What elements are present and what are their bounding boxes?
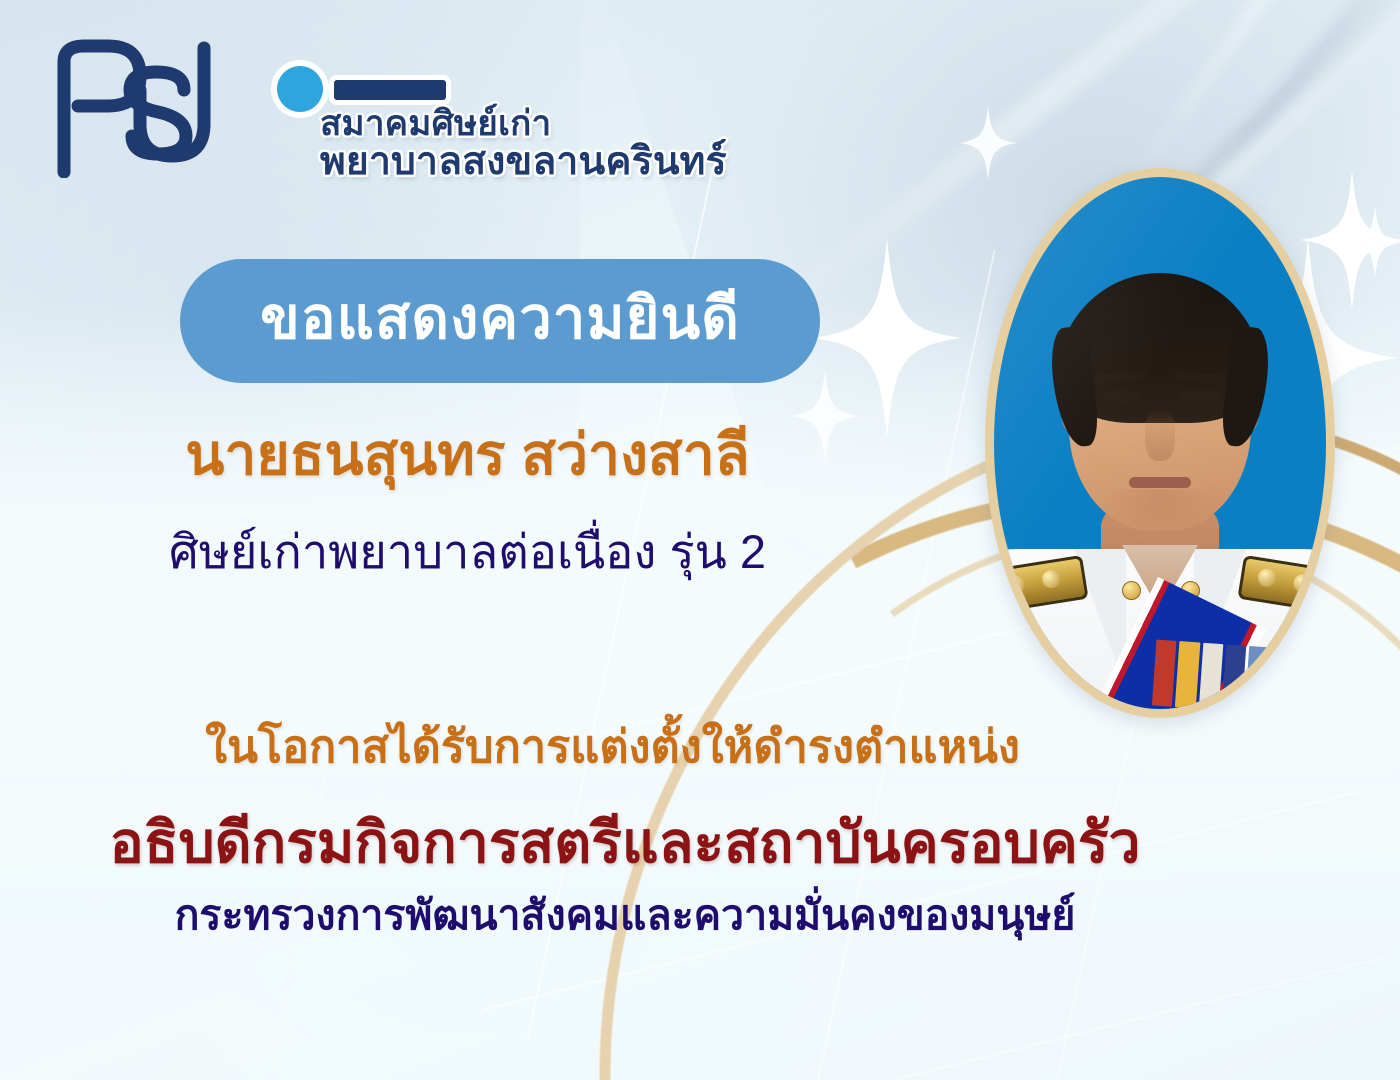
- portrait-collar-button-left: [1122, 581, 1141, 600]
- sparkle-icon-top: [960, 106, 1016, 180]
- portrait-frame: [985, 168, 1335, 718]
- honoree-name: นายธนสุนทร สว่างสาลี: [0, 424, 935, 487]
- portrait-chin-shadow: [1105, 489, 1215, 535]
- appointment-position: อธิบดีกรมกิจการสตรีและสถาบันครอบครัว: [0, 812, 1250, 875]
- portrait-nose: [1145, 409, 1175, 461]
- portrait-name-plate: [994, 689, 1072, 709]
- portrait-eye-right: [1179, 390, 1219, 403]
- portrait-eye-left: [1101, 390, 1141, 403]
- psu-monogram-icon: [34, 32, 284, 178]
- portrait-mouth: [1129, 477, 1191, 488]
- congratulations-label: ขอแสดงความยินดี: [260, 290, 740, 348]
- portrait-insignia-1: [994, 643, 1018, 677]
- portrait-photo: [994, 177, 1326, 709]
- logo-wordmark: สมาคมศิษย์เก่า พยาบาลสงขลานครินทร์: [320, 106, 740, 183]
- portrait-medal-ribbons: [1152, 639, 1316, 709]
- logo-dot-icon: [277, 66, 323, 112]
- logo-line-1: สมาคมศิษย์เก่า: [320, 106, 740, 142]
- honoree-affiliation: ศิษย์เก่าพยาบาลต่อเนื่อง รุ่น 2: [0, 525, 935, 579]
- appointment-ministry: กระทรวงการพัฒนาสังคมและความมั่นคงของมนุษ…: [0, 893, 1250, 939]
- appointment-occasion: ในโอกาสได้รับการแต่งตั้งให้ดำรงตำแหน่ง: [0, 722, 1225, 772]
- background-gridline-2: [806, 250, 995, 1080]
- sparkle-icon-tiny-right: [1348, 206, 1400, 278]
- logo-bar-icon: [334, 80, 446, 100]
- psu-alumni-logo: สมาคมศิษย์เก่า พยาบาลสงขลานครินทร์: [34, 28, 694, 188]
- background-streak-dark-2: [1190, 0, 1400, 201]
- background-gridline-6: [710, 955, 1390, 1080]
- portrait-insignia-2: [1030, 639, 1052, 673]
- sparkle-icon-large-left: [812, 238, 962, 438]
- congratulation-card: สมาคมศิษย์เก่า พยาบาลสงขลานครินทร์: [0, 0, 1400, 1080]
- logo-line-2: พยาบาลสงขลานครินทร์: [320, 142, 740, 183]
- congratulations-badge: ขอแสดงความยินดี: [180, 259, 820, 383]
- sparkle-icon-medium-right: [1300, 170, 1400, 310]
